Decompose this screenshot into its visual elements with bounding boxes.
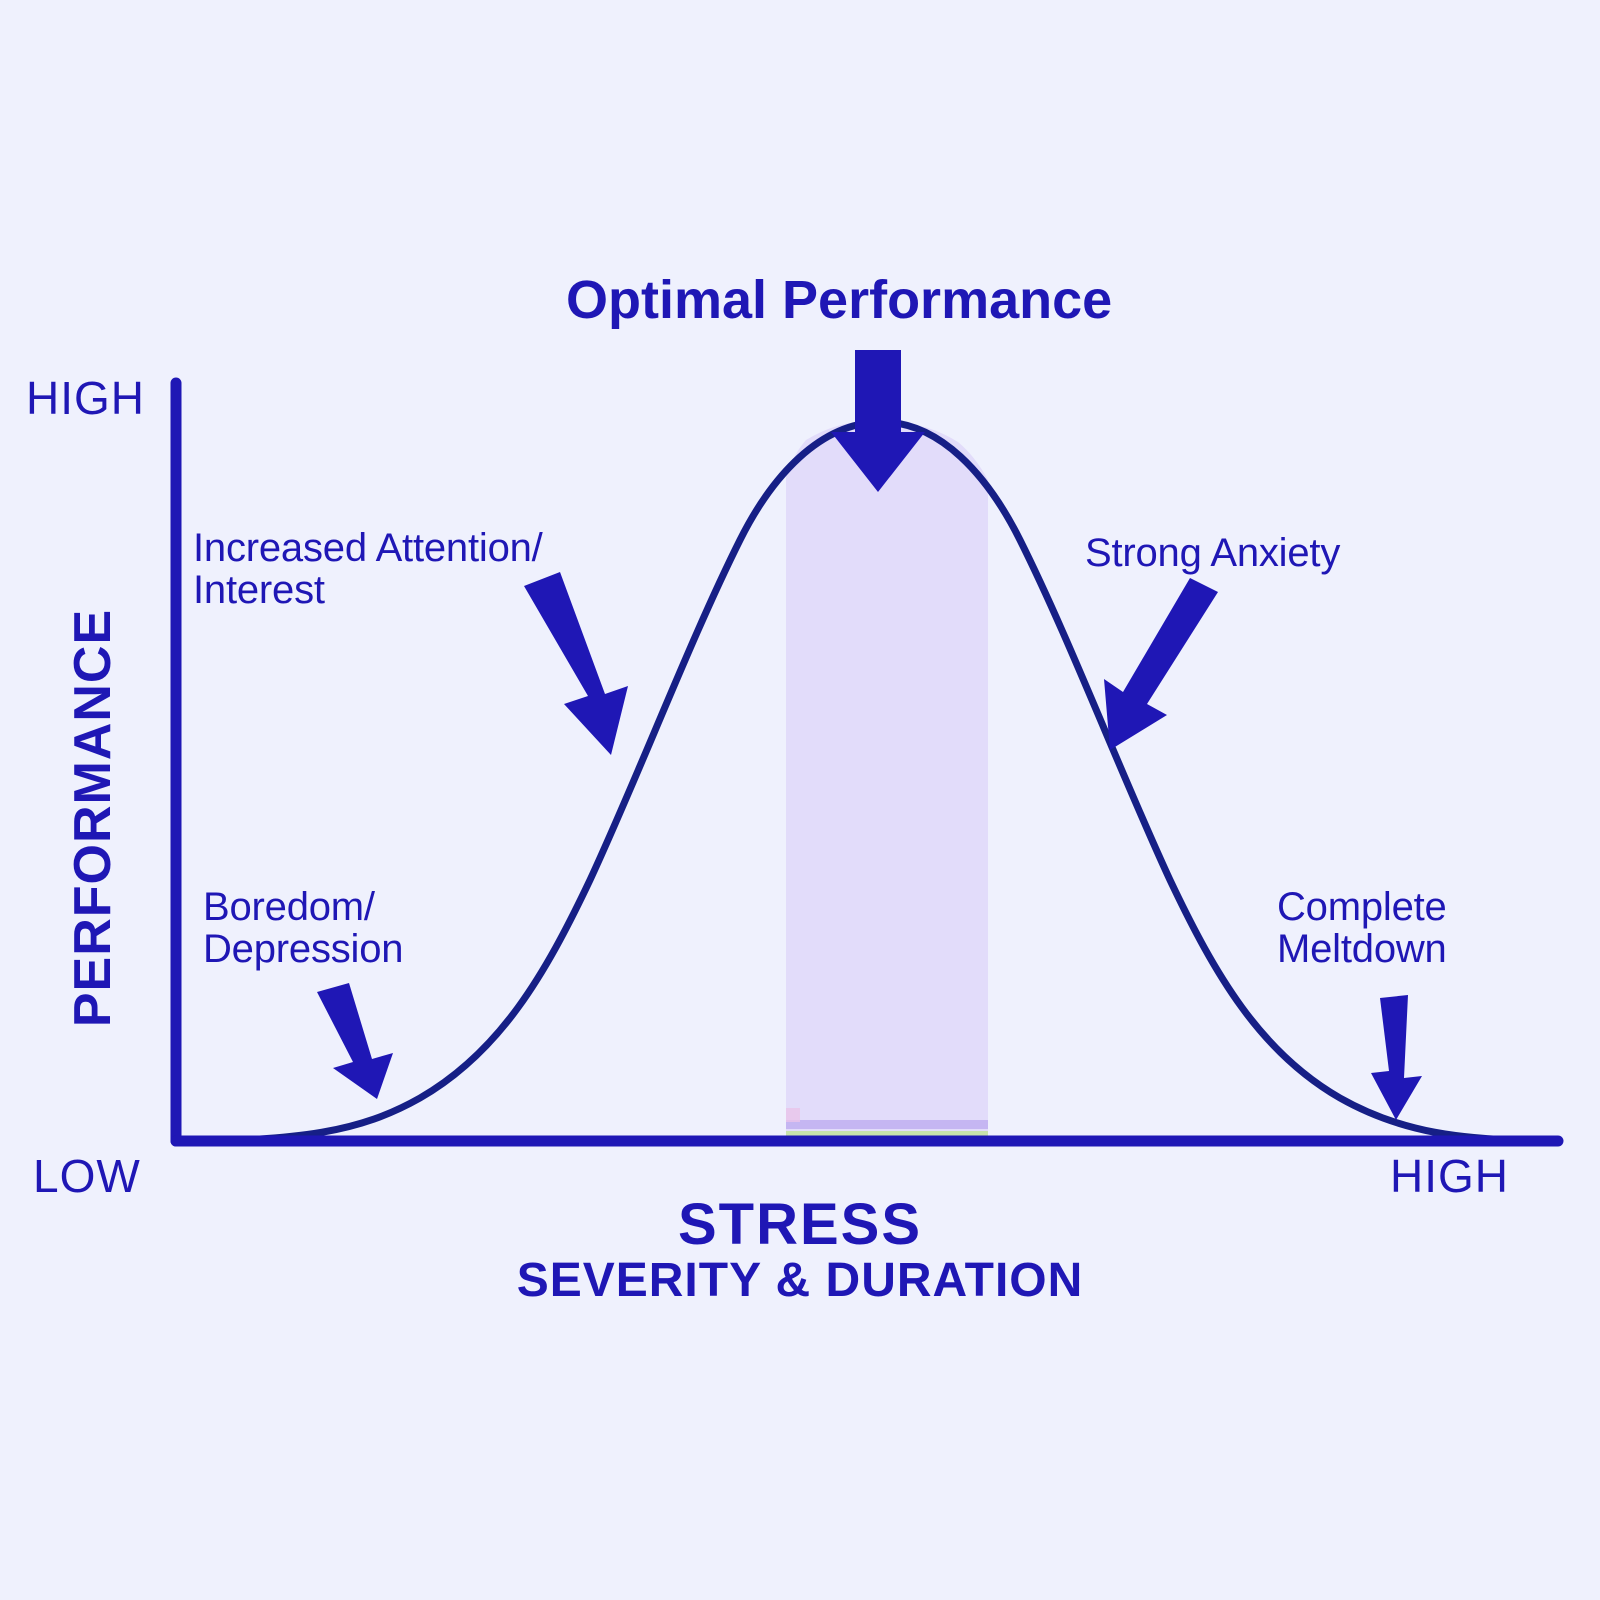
annotation-strong-anxiety: Strong Anxiety [1085, 532, 1340, 574]
x-axis-right-tick-label: HIGH [1390, 1152, 1509, 1201]
annotation-complete-meltdown: Complete Meltdown [1277, 886, 1447, 971]
complete-meltdown-arrow-icon [1371, 995, 1422, 1120]
annotation-boredom-depression: Boredom/ Depression [203, 886, 403, 971]
optimal-zone-band [786, 421, 988, 1140]
x-axis-title-sub: SEVERITY & DURATION [0, 1256, 1600, 1307]
x-axis-title-main: STRESS [0, 1196, 1600, 1254]
strong-anxiety-arrow-icon [1104, 578, 1218, 750]
x-axis-title: STRESS SEVERITY & DURATION [0, 1196, 1600, 1307]
x-axis-left-tick-label: LOW [33, 1152, 141, 1201]
annotation-increased-attention: Increased Attention/ Interest [193, 527, 543, 612]
y-axis-title: PERFORMANCE [63, 558, 123, 1078]
boredom-depression-arrow-icon [317, 983, 393, 1099]
page-title: Optimal Performance [566, 272, 1112, 329]
chart-canvas [0, 0, 1600, 1600]
stress-performance-chart: Optimal Performance Increased Attention/… [0, 0, 1600, 1600]
y-axis-top-tick-label: HIGH [26, 374, 145, 423]
